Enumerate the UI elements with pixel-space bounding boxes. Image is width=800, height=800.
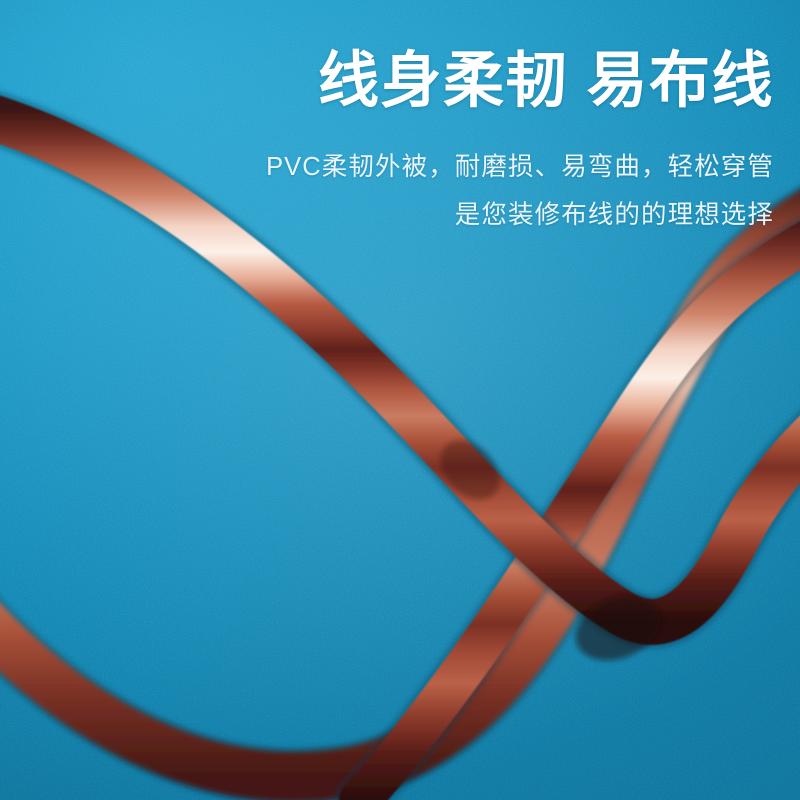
product-banner: 线身柔韧 易布线 PVC柔韧外被，耐磨损、易弯曲，轻松穿管 是您装修布线的的理想… xyxy=(0,0,800,800)
page-title: 线身柔韧 易布线 xyxy=(0,48,774,113)
cable-illustration xyxy=(0,0,800,800)
subtitle-line-1: PVC柔韧外被，耐磨损、易弯曲，轻松穿管 xyxy=(266,155,774,181)
subtitle-line-2: 是您装修布线的的理想选择 xyxy=(455,203,774,229)
cable-lower-shadow xyxy=(0,184,800,777)
cable-lower-wave xyxy=(0,184,800,777)
